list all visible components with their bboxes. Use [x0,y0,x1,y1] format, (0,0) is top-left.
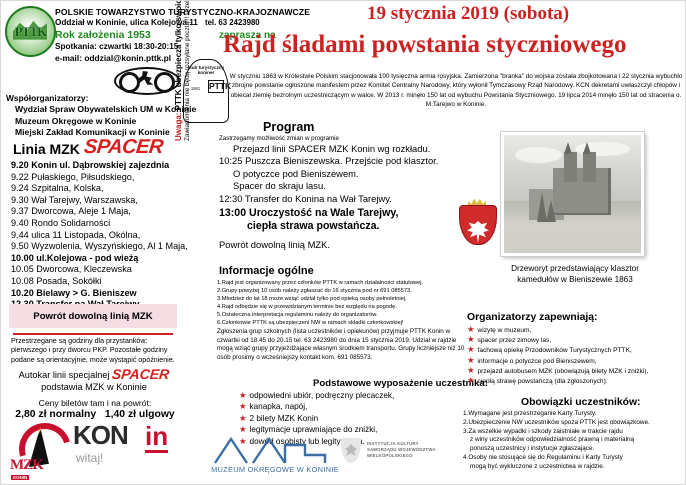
organizers-provide-item-label: spacer przez zimowy las, [478,337,552,344]
timetable-row: 9.20 Konin ul. Dąbrowskiej zajezdnia [11,160,176,172]
organizers-provide-item-label: ciepłą strawę powstańczą (dla zgłoszonyc… [478,378,608,385]
program-highlight-line2: ciepła strawa powstańcza. [219,220,437,233]
mzk-logo-subtext: KONIN [11,475,29,480]
star-icon: ★ [239,390,247,400]
woodcut-tower [583,152,595,183]
duties-list: 1.Wymagane jest przestrzeganie Karty Tur… [463,410,685,472]
museum-roofline-icon [213,433,337,465]
stop-place: Dworcowa, Aleje 1 Maja, [31,206,131,216]
coorganizer-item: Wydział Spraw Obywatelskich UM w Koninie [15,104,196,116]
equipment-item: ★2 bilety MZK Konin [239,413,394,424]
timetable-row: 10.05 Dworcowa, Kleczewska [11,264,176,276]
equipment-item-label: odpowiedni ubiór, podręczny plecaczek, [250,391,395,400]
shield-shape [459,205,497,245]
program-item: 12:30 Transfer do Konina na Wał Tarejwy. [219,193,459,205]
timetable-row: 10.08 Posada, Sokółki [11,276,176,288]
warning-line1: PTTK ubezpiecza tylko swoich członków! [174,0,183,110]
stop-place: Dworcowa, Kleczewska [36,264,132,274]
divider-red [13,333,173,335]
stop-place: Rondo Solidarności [31,218,110,228]
konin-logo-tagline: witaj! [76,452,103,465]
star-icon: ★ [467,355,475,365]
duties-item: mogą być wykluczone z uczestnictwa w raj… [463,463,685,472]
program-item: 10:25 Puszcza Bieniszewska. Przejście po… [219,155,459,167]
prices-label: Ceny biletów tam i na powrót: [9,397,181,409]
stop-place: ulica 11 Listopada, Okólna, [31,230,140,240]
special-coach-info: Autokar linii specjalnej SPACER podstawi… [9,367,179,393]
wielkopolska-logo-text: INSTYTUCJA KULTURY SAMORZĄDU WOJEWÓDZTWA… [367,441,436,460]
stop-place: Konin ul. Dąbrowskiej zajezdnia [31,160,169,170]
organizers-provide-item: ★informacje o potyczce pod Bieniszewem, [467,356,648,366]
stop-time: 9.30 [11,195,29,205]
woodcut-tower [564,152,576,183]
duties-item: 3.Za wszelkie wypadki i szkody zaistniał… [463,428,685,437]
woodcut-caption-line1: Drzeworyt przedstawiający klasztor [485,263,665,274]
stop-time: 10.20 [11,288,34,298]
timetable-row: 9.22 Pułaskiego, Piłsudskiego, [11,172,176,184]
stop-place: Wał Tarejwy, Warszawska, [31,195,138,205]
stop-time: 9.44 [11,230,29,240]
general-info-item: 4.Rajd odbędzie się w przewidzianym term… [217,303,467,311]
poster-root: PTTK POLSKIE TOWARZYSTWO TURYSTYCZNO-KRA… [0,0,686,485]
stop-time: 10.08 [11,276,34,286]
timetable-row: 9.37 Dworcowa, Aleje 1 Maja, [11,206,176,218]
program-highlight-line1: 13:00 Uroczystość na Wale Tarejwy, [219,207,437,220]
registration-paragraph: Zgłoszenia grup szkolnych (lista uczestn… [217,328,467,362]
eagle-icon [467,221,489,243]
timetable-row: 10.00 ul.Kolejowa - pod wieżą [11,253,176,265]
program-item: O potyczce pod Bieniszewem. [219,168,459,180]
woodcut-caption-line2: kamedułów w Bieniszewie 1863 [485,274,665,285]
organizers-provide-list: ★wizytę w muzeum, ★spacer przez zimowy l… [467,325,648,386]
woodcut-illustration [501,132,644,256]
equipment-item-label: 2 bilety MZK Konin [250,414,319,423]
equipment-item: ★kanapka, napój, [239,401,394,412]
organizers-provide-item: ★ciepłą strawę powstańczą (dla zgłoszony… [467,376,648,386]
bus-line-label: Linia MZK [13,141,80,157]
program-subtitle: Zastrzegamy możliwość zmian w programie [219,135,339,142]
stop-place: ul.Kolejowa - pod wieżą [36,253,138,263]
stop-place: Szpitalna, Kolska, [31,183,103,193]
star-icon: ★ [467,344,475,354]
duties-title: Obowiązki uczestników: [521,397,641,409]
star-icon: ★ [467,324,475,334]
timetable-disclaimer: Przestrzegane są godziny dla przystanków… [11,337,179,365]
warning-label: Uwaga: [174,113,183,141]
mzk-logo-text: MZK [10,458,43,473]
mzk-logo-icon: MZK KONIN [7,421,69,483]
price-normal: 2,80 zł normalny [15,409,96,420]
timetable-row: 9.24 Szpitalna, Kolska, [11,183,176,195]
meeting-hours: Spotkania: czwartki 18:30-20:15 [55,42,178,52]
stop-time: 10.05 [11,264,34,274]
bus-line-name: SPACER [83,137,164,158]
stop-place: Bielawy > G. Bieniszew [36,288,136,298]
duties-item: 4.Osoby nie stosujące się do Regulaminu … [463,454,685,463]
stop-time: 9.40 [11,218,29,228]
woodcut-monastery-church [553,168,611,215]
general-info-item: 1.Rajd jest organizowany przez członków … [217,279,467,287]
stop-time: 9.22 [11,172,29,182]
equipment-item: ★odpowiedni ubiór, podręczny plecaczek, [239,390,394,401]
klub-badge-letters: PTTK [208,80,224,93]
duties-item: 1.Wymagane jest przestrzeganie Karty Tur… [463,410,685,419]
konin-logo-kon: KON [73,422,128,449]
star-icon: ★ [467,365,475,375]
equipment-item-label: kanapka, napój, [250,402,308,411]
founded-year: Rok założenia 1953 [55,29,151,41]
organizers-provide-item: ★przejazd autobusem MZK (obowiązują bile… [467,366,648,376]
star-icon: ★ [467,375,475,385]
stop-time: 9.24 [11,183,29,193]
timetable-row: 10.20 Bielawy > G. Bieniszew [11,288,176,300]
cyclist-badge-icon [114,67,180,95]
stop-time: 9.20 [11,160,29,170]
star-icon: ★ [239,401,247,411]
woodcut-caption: Drzeworyt przedstawiający klasztor kamed… [485,263,665,285]
stop-place: Wyzwolenia, Wyszyńskiego, Al 1 Maja, [31,241,188,251]
pttk-logo-icon: PTTK [5,6,56,57]
ticket-prices: Ceny biletów tam i na powrót: 2,80 zł no… [9,397,181,421]
woodcut-spire [583,142,591,154]
warning-headline: Uwaga: PTTK ubezpiecza tylko swoich czło… [174,0,183,141]
historical-intro-paragraph: W styczniu 1863 w Królestwie Polskim sta… [228,72,684,110]
woodcut-tree [537,192,547,222]
event-title: Rajd śladami powstania styczniowego [223,31,627,59]
coach-line-name: SPACER [111,367,170,381]
museum-logo-caption: MUZEUM OKRĘGOWE W KONINIE [201,465,349,474]
email-address: e-mail: oddzial@konin.pttk.pl [55,53,171,63]
organizers-provide-title: Organizatorzy zapewniają: [467,312,598,324]
duties-item: 2.Ubezpieczenie NW uczestników spoza PTT… [463,419,685,428]
stop-time: 9.37 [11,206,29,216]
general-info-list: 1.Rajd jest organizowany przez członków … [217,279,467,327]
woodcut-cloud [515,147,562,164]
organizers-provide-item: ★fachową opiekę Przodowników Turystyczny… [467,345,648,355]
organizers-provide-item: ★spacer przez zimowy las, [467,335,648,345]
program-highlight: 13:00 Uroczystość na Wale Tarejwy, ciepł… [219,207,437,234]
program-item-list: Przejazd linii SPACER MZK Konin wg rozkł… [219,143,459,205]
coach-text-1: Autokar linii specjalnej [19,370,110,380]
coorganizer-item: Muzeum Okręgowe w Koninie [15,116,196,128]
coach-text-2: podstawia MZK w Koninie [9,381,179,393]
timetable-row: 9.40 Rondo Solidarności [11,218,176,230]
stop-place: Pułaskiego, Piłsudskiego, [31,172,134,182]
coorganizers-label: Współorganizatorzy: [6,93,88,103]
duties-item: ponoszą uczestnicy i instytucje zgłaszaj… [463,445,685,454]
pttk-logo-text: PTTK [15,24,46,40]
wielkopolska-shield-icon [341,438,361,463]
woodcut-spire [564,142,572,154]
duties-item: z winy uczestników odpowiedzialność praw… [463,436,685,445]
timetable-row: 9.50 Wyzwolenia, Wyszyńskiego, Al 1 Maja… [11,241,176,253]
general-info-item: 2.Grupy powyżej 10 osób należy zgłaszać … [217,287,467,295]
organizers-provide-item: ★wizytę w muzeum, [467,325,648,335]
woodcut-image [501,132,644,256]
price-reduced: 1,40 zł ulgowy [105,409,175,420]
general-info-item: 6.Członkowie PTTK są ubezpieczeni NW w r… [217,319,467,327]
phone-number: tel. 63 2423980 [205,18,260,27]
star-icon: ★ [467,334,475,344]
program-return-note: Powrót dowolną linią MZK. [219,239,330,250]
timetable-row: 9.44 ulica 11 Listopada, Okólna, [11,230,176,242]
museum-logo: MUZEUM OKRĘGOWE W KONINIE [201,433,349,479]
polish-coat-of-arms-icon [459,197,495,243]
konin-city-logo: KON in witaj! [73,422,183,470]
wielkopolska-line3: WIELKOPOLSKIEGO [367,453,436,459]
stop-time: 9.50 [11,241,29,251]
stop-time: 10.00 [11,253,34,263]
program-item: Przejazd linii SPACER MZK Konin wg rozkł… [219,143,459,155]
organizers-provide-item-label: wizytę w muzeum, [478,327,532,334]
stop-place: Posada, Sokółki [36,276,101,286]
gear-left-icon [119,72,140,93]
general-info-item: 5.Ostateczna interpretacja regulaminu na… [217,311,467,319]
return-banner: Powrót dowolną linią MZK [9,304,177,328]
konin-logo-in: in [145,423,168,453]
coorganizers-list: Wydział Spraw Obywatelskich UM w Koninie… [15,104,196,139]
woodcut-tree [546,200,556,222]
program-item: Spacer do skraju lasu. [219,180,459,192]
timetable-stop-list: 9.20 Konin ul. Dąbrowskiej zajezdnia 9.2… [11,160,176,322]
general-info-item: 3.Młodzież do lat 18 może wziąć udział t… [217,295,467,303]
insurance-warning-rotated: Uwaga: PTTK ubezpiecza tylko swoich czło… [174,0,208,141]
equipment-title: Podstawowe wyposażenie uczestnika: [313,378,488,389]
star-icon: ★ [239,413,247,423]
event-date: 19 stycznia 2019 (sobota) [367,3,569,25]
timetable-row: 9.30 Wał Tarejwy, Warszawska, [11,195,176,207]
organizers-provide-item-label: informacje o potyczce pod Bieniszewem, [478,358,597,365]
wielkopolska-institution-logo: INSTYTUCJA KULTURY SAMORZĄDU WOJEWÓDZTWA… [341,438,451,472]
gear-right-icon [154,72,175,93]
organizers-provide-item-label: przejazd autobusem MZK (obowiązują bilet… [478,368,649,375]
cyclist-figure-icon [138,71,154,87]
program-title: Program [263,120,314,134]
general-info-title: Informacje ogólne [219,265,314,278]
warning-line2: Zawiadomienia nie będą rozsyłane pocztą!… [184,0,191,141]
organizers-provide-item-label: fachową opiekę Przodowników Turystycznyc… [478,347,632,354]
